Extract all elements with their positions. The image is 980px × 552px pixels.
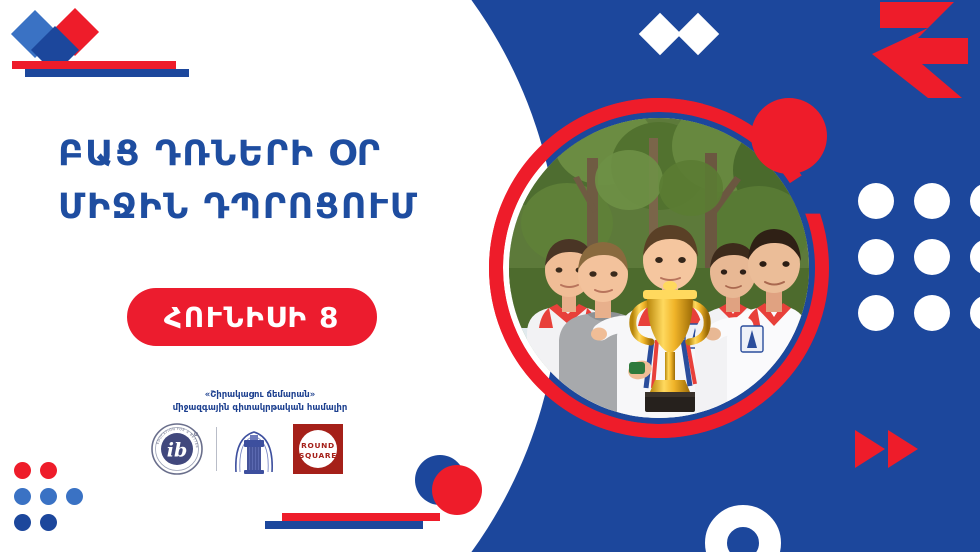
headline-line-1: ԲԱՑ ԴՌՆԵՐԻ ՕՐ <box>58 128 478 181</box>
decor-bar-bottom-blue <box>265 521 423 529</box>
decor-triangle-2-icon <box>888 430 918 468</box>
round-square-line-1: ROUND <box>301 441 335 450</box>
logo-strip: ib EDUCATION FOR A BETTER WORLD R ROUND … <box>150 422 370 476</box>
decor-dot <box>14 514 31 531</box>
round-square-logo-icon: ROUND SQUARE <box>291 422 345 476</box>
school-caption: «Շիրակացու ճեմարան» միջազգային գիտակրթակ… <box>110 389 410 415</box>
decor-bar-bottom-red <box>282 513 440 521</box>
decor-zigzag-icon <box>862 2 980 98</box>
decor-dot <box>14 462 31 479</box>
decor-grid-dot <box>858 239 894 275</box>
decor-bar-top-red <box>12 61 176 69</box>
decor-dot <box>66 488 83 505</box>
decor-red-circle <box>751 98 827 174</box>
date-badge[interactable]: ՀՈՒՆԻՍԻ 8 <box>127 288 377 346</box>
caption-line-1: «Շիրակացու ճեմարան» <box>110 389 410 402</box>
decor-grid-dot <box>858 295 894 331</box>
decor-circle-red <box>432 465 482 515</box>
decor-dot <box>40 488 57 505</box>
decor-bar-top-blue <box>25 69 189 77</box>
decor-dot <box>40 514 57 531</box>
caption-line-2: միջազգային գիտակրթական համալիր <box>110 402 410 415</box>
decor-dot <box>14 488 31 505</box>
ib-logo-icon: ib EDUCATION FOR A BETTER WORLD R <box>150 422 204 476</box>
decor-triangle-1-icon <box>855 430 885 468</box>
headline-line-2: ՄԻՋԻՆ ԴՊՐՈՑՈՒՄ <box>58 181 478 234</box>
decor-dot <box>40 462 57 479</box>
event-poster: ԲԱՑ ԴՌՆԵՐԻ ՕՐ ՄԻՋԻՆ ԴՊՐՈՑՈՒՄ ՀՈՒՆԻՍԻ 8 «… <box>0 0 980 552</box>
shirakatsy-pillar-logo-icon <box>229 422 279 476</box>
date-badge-label: ՀՈՒՆԻՍԻ 8 <box>164 301 340 334</box>
decor-grid-dot <box>858 183 894 219</box>
decor-grid-dot <box>914 239 950 275</box>
round-square-line-2: SQUARE <box>299 451 337 460</box>
page-title: ԲԱՑ ԴՌՆԵՐԻ ՕՐ ՄԻՋԻՆ ԴՊՐՈՑՈՒՄ <box>58 128 478 234</box>
decor-grid-dot <box>914 183 950 219</box>
ib-logo-text: ib <box>167 440 188 462</box>
decor-grid-dot <box>914 295 950 331</box>
logo-divider <box>216 427 217 471</box>
